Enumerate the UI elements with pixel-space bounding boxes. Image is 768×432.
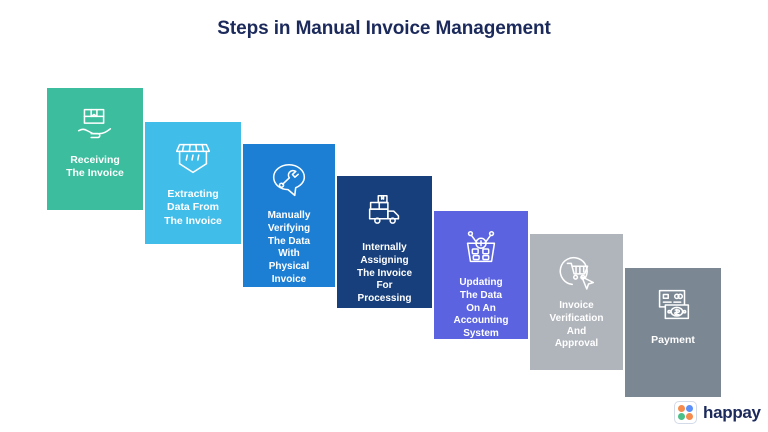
process-step-label: Updating The Data On An Accounting Syste… [450,277,513,341]
process-step-label: Internally Assigning The Invoice For Pro… [353,242,416,306]
process-step-5-updating-the-data-on-an-accounting-system[interactable]: Updating The Data On An Accounting Syste… [434,211,528,339]
process-staircase-diagram: Receiving The Invoice Extracting Data Fr… [0,0,768,432]
process-step-label: Receiving The Invoice [62,154,128,181]
process-step-label: Payment [647,334,699,347]
delivery-truck-icon [362,190,408,236]
process-step-label: Manually Verifying The Data With Physica… [264,210,315,287]
process-step-label: Extracting Data From The Invoice [160,188,226,228]
wrench-speech-bubble-icon [266,158,312,204]
process-step-3-manually-verifying-the-data-with-physical-invoice[interactable]: Manually Verifying The Data With Physica… [243,144,335,287]
logo-dot-top-left [678,405,685,412]
process-step-label: Invoice Verification And Approval [546,300,608,351]
card-and-banknote-icon [650,282,696,328]
brand-logo: happay [674,401,761,424]
shopping-basket-plus-icon [458,225,504,271]
logo-dot-bottom-left [678,413,685,420]
brand-name: happay [703,403,761,423]
logo-dot-top-right [686,405,693,412]
storefront-awning-icon [170,136,216,182]
shopping-cart-cursor-icon [554,248,600,294]
process-step-6-invoice-verification-and-approval[interactable]: Invoice Verification And Approval [530,234,623,370]
process-step-1-receiving-the-invoice[interactable]: Receiving The Invoice [47,88,143,210]
four-dot-grid-icon [674,401,697,424]
process-step-7-payment[interactable]: Payment [625,268,721,397]
logo-dot-bottom-right [686,413,693,420]
process-step-4-internally-assigning-the-invoice-for-processing[interactable]: Internally Assigning The Invoice For Pro… [337,176,432,308]
process-step-2-extracting-data-from-the-invoice[interactable]: Extracting Data From The Invoice [145,122,241,244]
hand-holding-package-icon [72,102,118,148]
